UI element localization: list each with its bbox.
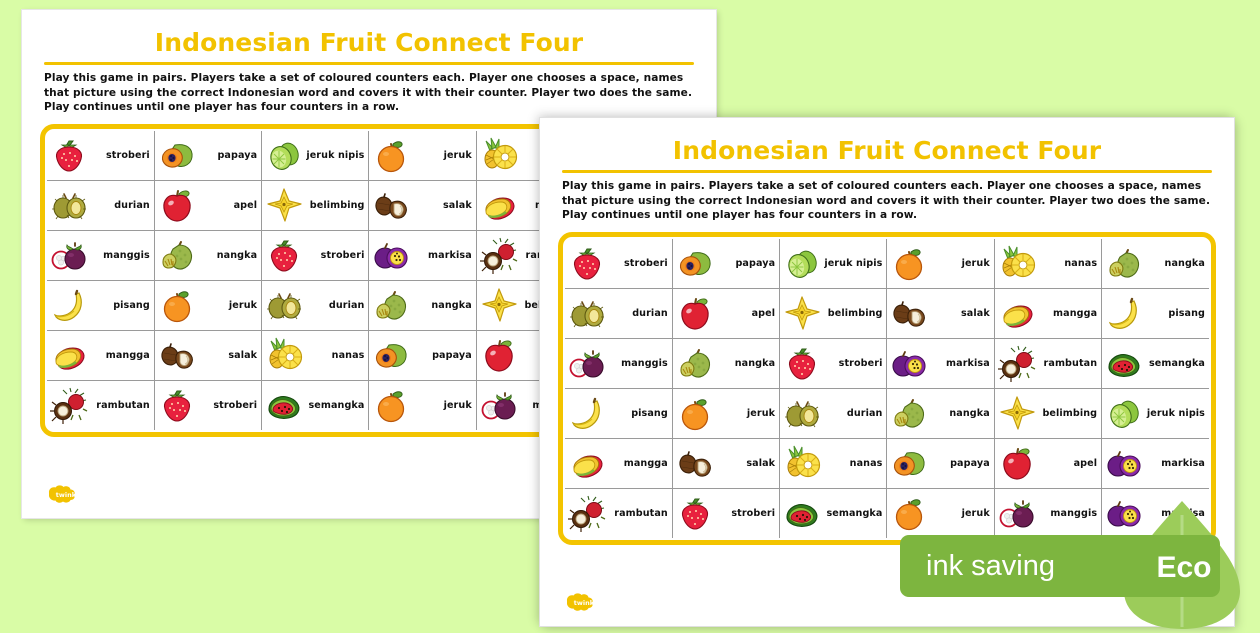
rambutan-icon bbox=[997, 343, 1037, 383]
fruit-word-label: durian bbox=[91, 200, 152, 211]
starfruit-icon bbox=[782, 293, 822, 333]
fruit-word-label: papaya bbox=[931, 458, 991, 469]
starfruit-icon bbox=[264, 185, 304, 225]
fruit-word-label: belimbing bbox=[1039, 408, 1099, 419]
rambutan-icon bbox=[49, 385, 89, 425]
passionfruit-icon bbox=[1104, 493, 1144, 533]
durian-icon bbox=[567, 293, 607, 333]
twinkl-logo: twinkl bbox=[562, 592, 608, 612]
grid-cell-3-2[interactable]: nangka bbox=[672, 338, 779, 388]
starfruit-icon bbox=[479, 285, 519, 325]
fruit-word-label: rambutan bbox=[91, 400, 152, 411]
fruit-word-label: nanas bbox=[1039, 258, 1099, 269]
cell-content: markisa bbox=[1104, 489, 1207, 538]
cell-content: semangka bbox=[1104, 339, 1207, 388]
grid-cell-4-1[interactable]: pisang bbox=[47, 280, 154, 330]
lime-icon bbox=[264, 135, 304, 175]
banana-icon bbox=[567, 393, 607, 433]
jackfruit-icon bbox=[157, 235, 197, 275]
cell-content: stroberi bbox=[782, 339, 884, 388]
cell-content: semangka bbox=[264, 381, 366, 430]
fruit-word-label: papaya bbox=[199, 150, 259, 161]
fruit-word-label: nangka bbox=[717, 358, 777, 369]
apple-icon bbox=[157, 185, 197, 225]
orange-icon bbox=[889, 493, 929, 533]
grid-cell-1-4[interactable]: jeruk bbox=[887, 239, 994, 289]
cell-content: stroberi bbox=[264, 231, 366, 280]
passionfruit-icon bbox=[1104, 443, 1144, 483]
grid-cell-5-6[interactable]: markisa bbox=[1102, 438, 1209, 488]
cell-content: papaya bbox=[157, 131, 259, 180]
starfruit-icon bbox=[997, 393, 1037, 433]
fruit-word-label: semangka bbox=[824, 508, 884, 519]
strawberry-icon bbox=[567, 243, 607, 283]
cell-content: apel bbox=[157, 181, 259, 230]
fruit-word-label: nangka bbox=[413, 300, 473, 311]
fruit-word-label: jeruk bbox=[717, 408, 777, 419]
salak-icon bbox=[675, 443, 715, 483]
cell-content: papaya bbox=[675, 239, 777, 288]
apple-icon bbox=[997, 443, 1037, 483]
fruit-word-label: salak bbox=[717, 458, 777, 469]
grid-cell-3-1[interactable]: manggis bbox=[47, 230, 154, 280]
grid-cell-2-4[interactable]: salak bbox=[887, 288, 994, 338]
grid-cell-3-3[interactable]: stroberi bbox=[780, 338, 887, 388]
grid-cell-3-1[interactable]: manggis bbox=[565, 338, 672, 388]
fruit-word-label: papaya bbox=[413, 350, 473, 361]
grid-cell-4-2[interactable]: jeruk bbox=[672, 388, 779, 438]
salak-icon bbox=[157, 335, 197, 375]
fruit-word-label: markisa bbox=[1146, 508, 1207, 519]
grid-cell-2-5[interactable]: mangga bbox=[994, 288, 1101, 338]
fruit-word-label: semangka bbox=[1146, 358, 1207, 369]
cell-content: nangka bbox=[371, 281, 473, 330]
fruit-word-label: manggis bbox=[91, 250, 152, 261]
cell-content: durian bbox=[782, 389, 884, 438]
cell-content: manggis bbox=[567, 339, 670, 388]
fruit-word-label: stroberi bbox=[199, 400, 259, 411]
strawberry-icon bbox=[782, 343, 822, 383]
grid-cell-6-2[interactable]: stroberi bbox=[672, 488, 779, 538]
fruit-word-label: jeruk nipis bbox=[824, 258, 884, 269]
worksheet-sheet-front[interactable]: Indonesian Fruit Connect Four Play this … bbox=[540, 118, 1234, 626]
fruit-word-label: nangka bbox=[931, 408, 991, 419]
grid-row: manggasalaknanaspapayaapelmarkisa bbox=[565, 438, 1209, 488]
watermelon-icon bbox=[264, 385, 304, 425]
cell-content: markisa bbox=[371, 231, 473, 280]
fruit-word-label: pisang bbox=[1146, 308, 1207, 319]
grid-cell-5-2[interactable]: salak bbox=[672, 438, 779, 488]
grid-cell-6-4[interactable]: jeruk bbox=[369, 380, 476, 430]
mangosteen-icon bbox=[49, 235, 89, 275]
jackfruit-icon bbox=[889, 393, 929, 433]
strawberry-icon bbox=[264, 235, 304, 275]
grid-row: pisangjerukduriannangkabelimbingjeruk ni… bbox=[565, 388, 1209, 438]
cell-content: salak bbox=[157, 331, 259, 380]
mango-icon bbox=[479, 185, 519, 225]
passionfruit-icon bbox=[889, 343, 929, 383]
cell-content: manggis bbox=[997, 489, 1099, 538]
grid-cell-1-3[interactable]: jeruk nipis bbox=[780, 239, 887, 289]
instructions-text: Play this game in pairs. Players take a … bbox=[562, 179, 1212, 223]
grid-row: manggisnangkastroberimarkisarambutansema… bbox=[565, 338, 1209, 388]
fruit-word-label: semangka bbox=[306, 400, 366, 411]
cell-content: salak bbox=[675, 439, 777, 488]
cell-content: papaya bbox=[889, 439, 991, 488]
cell-content: jeruk nipis bbox=[264, 131, 366, 180]
fruit-word-label: stroberi bbox=[824, 358, 884, 369]
apple-icon bbox=[675, 293, 715, 333]
fruit-word-label: stroberi bbox=[91, 150, 152, 161]
grid-cell-6-4[interactable]: jeruk bbox=[887, 488, 994, 538]
cell-content: apel bbox=[675, 289, 777, 338]
salak-icon bbox=[889, 293, 929, 333]
grid-cell-1-5[interactable]: nanas bbox=[994, 239, 1101, 289]
fruit-word-label: apel bbox=[717, 308, 777, 319]
cell-content: jeruk bbox=[157, 281, 259, 330]
cell-content: durian bbox=[49, 181, 152, 230]
cell-content: durian bbox=[567, 289, 670, 338]
cell-content: semangka bbox=[782, 489, 884, 538]
orange-icon bbox=[371, 385, 411, 425]
cell-content: belimbing bbox=[997, 389, 1099, 438]
cell-content: markisa bbox=[889, 339, 991, 388]
cell-content: stroberi bbox=[157, 381, 259, 430]
fruit-word-label: pisang bbox=[609, 408, 670, 419]
grid-row: durianapelbelimbingsalakmanggapisang bbox=[565, 288, 1209, 338]
grid-cell-5-2[interactable]: salak bbox=[154, 330, 261, 380]
grid-cell-4-6[interactable]: jeruk nipis bbox=[1102, 388, 1209, 438]
fruit-word-label: apel bbox=[1039, 458, 1099, 469]
fruit-word-label: jeruk bbox=[931, 258, 991, 269]
grid-cell-6-5[interactable]: manggis bbox=[994, 488, 1101, 538]
strawberry-icon bbox=[675, 493, 715, 533]
apple-icon bbox=[479, 335, 519, 375]
jackfruit-icon bbox=[1104, 243, 1144, 283]
durian-icon bbox=[782, 393, 822, 433]
mangosteen-icon bbox=[997, 493, 1037, 533]
orange-icon bbox=[889, 243, 929, 283]
fruit-word-label: salak bbox=[931, 308, 991, 319]
cell-content: papaya bbox=[371, 331, 473, 380]
cell-content: stroberi bbox=[49, 131, 152, 180]
grid-cell-1-1[interactable]: stroberi bbox=[565, 239, 672, 289]
strawberry-icon bbox=[157, 385, 197, 425]
passionfruit-icon bbox=[371, 235, 411, 275]
grid-cell-4-2[interactable]: jeruk bbox=[154, 280, 261, 330]
fruit-word-label: jeruk bbox=[413, 400, 473, 411]
title-underline-back bbox=[44, 62, 694, 65]
svg-text:twinkl: twinkl bbox=[574, 599, 597, 607]
fruit-word-label: markisa bbox=[1146, 458, 1207, 469]
grid-cell-1-2[interactable]: papaya bbox=[154, 131, 261, 181]
durian-icon bbox=[49, 185, 89, 225]
mango-icon bbox=[49, 335, 89, 375]
fruit-word-label: nangka bbox=[1146, 258, 1207, 269]
cell-content: nanas bbox=[997, 239, 1099, 288]
pineapple-icon bbox=[782, 443, 822, 483]
cell-content: nangka bbox=[157, 231, 259, 280]
fruit-word-label: papaya bbox=[717, 258, 777, 269]
grid-cell-3-5[interactable]: rambutan bbox=[994, 338, 1101, 388]
cell-content: salak bbox=[371, 181, 473, 230]
grid-cell-4-3[interactable]: durian bbox=[780, 388, 887, 438]
fruit-word-label: jeruk nipis bbox=[1146, 408, 1207, 419]
fruit-word-label: markisa bbox=[413, 250, 473, 261]
grid-cell-3-2[interactable]: nangka bbox=[154, 230, 261, 280]
grid-cell-4-5[interactable]: belimbing bbox=[994, 388, 1101, 438]
orange-icon bbox=[675, 393, 715, 433]
grid-cell-3-4[interactable]: markisa bbox=[369, 230, 476, 280]
fruit-word-label: nangka bbox=[199, 250, 259, 261]
cell-content: stroberi bbox=[567, 239, 670, 288]
lime-icon bbox=[1104, 393, 1144, 433]
grid-cell-5-1[interactable]: mangga bbox=[47, 330, 154, 380]
grid-cell-2-1[interactable]: durian bbox=[47, 180, 154, 230]
grid-cell-5-1[interactable]: mangga bbox=[565, 438, 672, 488]
papaya-icon bbox=[371, 335, 411, 375]
grid-cell-3-6[interactable]: semangka bbox=[1102, 338, 1209, 388]
cell-content: belimbing bbox=[782, 289, 884, 338]
cell-content: pisang bbox=[1104, 289, 1207, 338]
grid-cell-6-3[interactable]: semangka bbox=[262, 380, 369, 430]
cell-content: jeruk bbox=[371, 131, 473, 180]
fruit-word-label: durian bbox=[609, 308, 670, 319]
grid-cell-2-3[interactable]: belimbing bbox=[262, 180, 369, 230]
cell-content: jeruk bbox=[889, 489, 991, 538]
cell-content: markisa bbox=[1104, 439, 1207, 488]
fruit-word-label: durian bbox=[306, 300, 366, 311]
connect-four-grid[interactable]: stroberipapayajeruk nipisjeruknanasnangk… bbox=[558, 232, 1216, 545]
fruit-word-label: mangga bbox=[1039, 308, 1099, 319]
grid-cell-4-4[interactable]: nangka bbox=[369, 280, 476, 330]
salak-icon bbox=[371, 185, 411, 225]
fruit-word-label: salak bbox=[413, 200, 473, 211]
cell-content: pisang bbox=[567, 389, 670, 438]
lime-icon bbox=[782, 243, 822, 283]
page-stage: Indonesian Fruit Connect Four Play this … bbox=[0, 0, 1260, 630]
grid-cell-1-1[interactable]: stroberi bbox=[47, 131, 154, 181]
instructions-text-back: Play this game in pairs. Players take a … bbox=[44, 71, 694, 115]
grid-cell-1-2[interactable]: papaya bbox=[672, 239, 779, 289]
mangosteen-icon bbox=[567, 343, 607, 383]
cell-content: jeruk bbox=[675, 389, 777, 438]
grid-cell-2-4[interactable]: salak bbox=[369, 180, 476, 230]
cell-content: salak bbox=[889, 289, 991, 338]
cell-content: manggis bbox=[49, 231, 152, 280]
fruit-word-label: stroberi bbox=[306, 250, 366, 261]
cell-content: apel bbox=[997, 439, 1099, 488]
cell-content: rambutan bbox=[567, 489, 670, 538]
cell-content: stroberi bbox=[675, 489, 777, 538]
cell-content: pisang bbox=[49, 281, 152, 330]
cell-content: nangka bbox=[675, 339, 777, 388]
jackfruit-icon bbox=[675, 343, 715, 383]
grid-row: stroberipapayajeruk nipisjeruknanasnangk… bbox=[565, 239, 1209, 289]
page-title-back: Indonesian Fruit Connect Four bbox=[22, 28, 716, 57]
durian-icon bbox=[264, 285, 304, 325]
orange-icon bbox=[371, 135, 411, 175]
grid-cell-6-1[interactable]: rambutan bbox=[47, 380, 154, 430]
cell-content: jeruk bbox=[889, 239, 991, 288]
cell-content: durian bbox=[264, 281, 366, 330]
mango-icon bbox=[997, 293, 1037, 333]
fruit-word-label: markisa bbox=[931, 358, 991, 369]
grid-cell-4-4[interactable]: nangka bbox=[887, 388, 994, 438]
orange-icon bbox=[157, 285, 197, 325]
fruit-word-label: stroberi bbox=[717, 508, 777, 519]
grid-cell-1-6[interactable]: nangka bbox=[1102, 239, 1209, 289]
grid-row: rambutanstroberisemangkajerukmanggismark… bbox=[565, 488, 1209, 538]
fruit-word-label: apel bbox=[199, 200, 259, 211]
page-title: Indonesian Fruit Connect Four bbox=[540, 136, 1234, 165]
mangosteen-icon bbox=[479, 385, 519, 425]
fruit-word-label: jeruk bbox=[199, 300, 259, 311]
fruit-word-label: mangga bbox=[91, 350, 152, 361]
fruit-word-label: pisang bbox=[91, 300, 152, 311]
fruit-word-label: belimbing bbox=[306, 200, 366, 211]
cell-content: jeruk nipis bbox=[1104, 389, 1207, 438]
cell-content: nangka bbox=[889, 389, 991, 438]
papaya-icon bbox=[157, 135, 197, 175]
mango-icon bbox=[567, 443, 607, 483]
cell-content: belimbing bbox=[264, 181, 366, 230]
papaya-icon bbox=[675, 243, 715, 283]
jackfruit-icon bbox=[371, 285, 411, 325]
fruit-word-label: nanas bbox=[306, 350, 366, 361]
fruit-word-label: manggis bbox=[609, 358, 670, 369]
fruit-word-label: jeruk bbox=[931, 508, 991, 519]
grid-cell-6-1[interactable]: rambutan bbox=[565, 488, 672, 538]
grid-cell-6-3[interactable]: semangka bbox=[780, 488, 887, 538]
cell-content: mangga bbox=[49, 331, 152, 380]
fruit-word-label: jeruk nipis bbox=[306, 150, 366, 161]
svg-text:twinkl: twinkl bbox=[56, 491, 79, 499]
watermelon-icon bbox=[782, 493, 822, 533]
watermelon-icon bbox=[1104, 343, 1144, 383]
grid-body: stroberipapayajeruk nipisjeruknanasnangk… bbox=[565, 239, 1209, 538]
cell-content: rambutan bbox=[997, 339, 1099, 388]
fruit-word-label: durian bbox=[824, 408, 884, 419]
cell-content: nanas bbox=[264, 331, 366, 380]
cell-content: nanas bbox=[782, 439, 884, 488]
twinkl-logo-back: twinkl bbox=[44, 484, 90, 504]
cell-content: nangka bbox=[1104, 239, 1207, 288]
banana-icon bbox=[1104, 293, 1144, 333]
grid-cell-4-3[interactable]: durian bbox=[262, 280, 369, 330]
fruit-word-label: rambutan bbox=[1039, 358, 1099, 369]
grid-cell-6-2[interactable]: stroberi bbox=[154, 380, 261, 430]
grid-cell-3-4[interactable]: markisa bbox=[887, 338, 994, 388]
grid-cell-4-1[interactable]: pisang bbox=[565, 388, 672, 438]
cell-content: jeruk bbox=[371, 381, 473, 430]
grid-cell-2-2[interactable]: apel bbox=[672, 288, 779, 338]
grid-cell-5-4[interactable]: papaya bbox=[887, 438, 994, 488]
grid-cell-6-6[interactable]: markisa bbox=[1102, 488, 1209, 538]
grid-cell-2-6[interactable]: pisang bbox=[1102, 288, 1209, 338]
banana-icon bbox=[49, 285, 89, 325]
grid-cell-5-3[interactable]: nanas bbox=[780, 438, 887, 488]
grid-cell-5-4[interactable]: papaya bbox=[369, 330, 476, 380]
strawberry-icon bbox=[49, 135, 89, 175]
grid-cell-1-3[interactable]: jeruk nipis bbox=[262, 131, 369, 181]
grid-cell-5-3[interactable]: nanas bbox=[262, 330, 369, 380]
cell-content: rambutan bbox=[49, 381, 152, 430]
rambutan-icon bbox=[479, 235, 519, 275]
fruit-word-label: stroberi bbox=[609, 258, 670, 269]
fruit-word-label: mangga bbox=[609, 458, 670, 469]
fruit-word-label: manggis bbox=[1039, 508, 1099, 519]
papaya-icon bbox=[889, 443, 929, 483]
grid-cell-3-3[interactable]: stroberi bbox=[262, 230, 369, 280]
grid-cell-5-5[interactable]: apel bbox=[994, 438, 1101, 488]
pineapple-icon bbox=[479, 135, 519, 175]
cell-content: jeruk nipis bbox=[782, 239, 884, 288]
pineapple-icon bbox=[264, 335, 304, 375]
rambutan-icon bbox=[567, 493, 607, 533]
grid-cell-2-1[interactable]: durian bbox=[565, 288, 672, 338]
pineapple-icon bbox=[997, 243, 1037, 283]
fruit-word-label: rambutan bbox=[609, 508, 670, 519]
grid-cell-1-4[interactable]: jeruk bbox=[369, 131, 476, 181]
cell-content: mangga bbox=[567, 439, 670, 488]
fruit-word-label: salak bbox=[199, 350, 259, 361]
fruit-word-label: nanas bbox=[824, 458, 884, 469]
cell-content: mangga bbox=[997, 289, 1099, 338]
grid-cell-2-2[interactable]: apel bbox=[154, 180, 261, 230]
fruit-word-label: belimbing bbox=[824, 308, 884, 319]
fruit-word-label: jeruk bbox=[413, 150, 473, 161]
grid-cell-2-3[interactable]: belimbing bbox=[780, 288, 887, 338]
title-underline bbox=[562, 170, 1212, 173]
